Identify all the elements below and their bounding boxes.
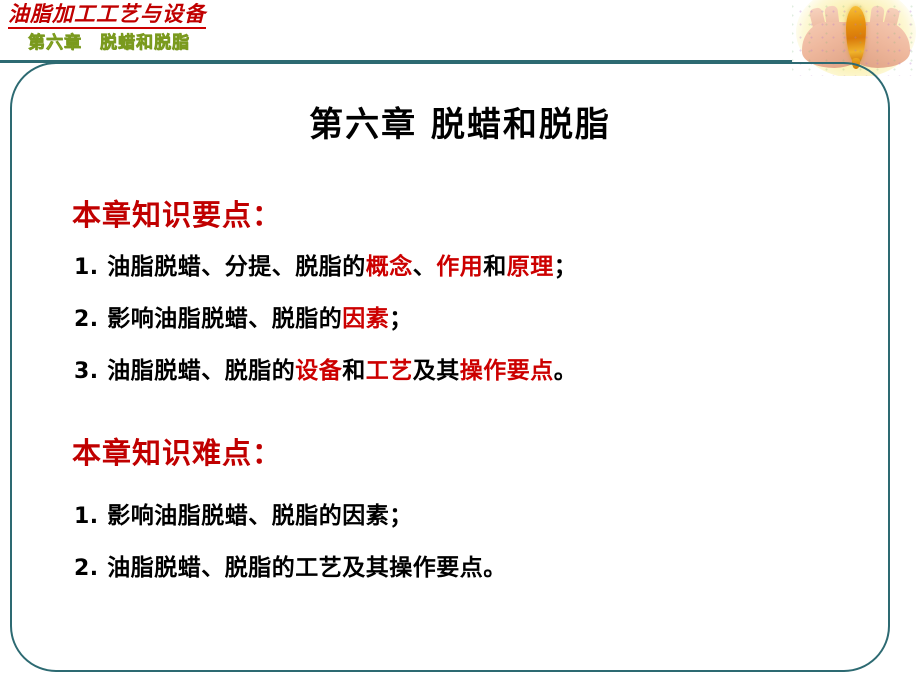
plain-text-run: 和 <box>483 253 507 280</box>
course-title: 油脂加工工艺与设备 <box>8 2 206 29</box>
list-item-number: 3. <box>74 359 99 384</box>
highlighted-term: 操作要点 <box>460 357 554 384</box>
list-item: 1. 油脂脱蜡、分提、脱脂的概念、作用和原理； <box>74 247 577 281</box>
list-item: 2. 影响油脂脱蜡、脱脂的因素； <box>74 299 413 333</box>
highlighted-term: 作用 <box>436 253 483 280</box>
highlighted-term: 工艺 <box>366 357 413 384</box>
list-item-number: 2. <box>74 307 99 332</box>
plain-text-run: 油脂脱蜡、分提、脱脂的 <box>107 253 366 280</box>
list-item-number: 1. <box>74 255 99 280</box>
list-item-text: 油脂脱蜡、脱脂的工艺及其操作要点。 <box>107 554 507 581</box>
slide-title: 第六章 脱蜡和脱脂 <box>0 97 920 146</box>
list-item-text: 影响油脂脱蜡、脱脂的因素； <box>107 305 413 332</box>
section-heading-difficult-points: 本章知识难点： <box>72 430 282 472</box>
highlighted-term: 原理 <box>507 253 554 280</box>
plain-text-run: 影响油脂脱蜡、脱脂的 <box>107 305 342 332</box>
list-item-number: 1. <box>74 504 99 529</box>
highlighted-term: 概念 <box>366 253 413 280</box>
list-item: 3. 油脂脱蜡、脱脂的设备和工艺及其操作要点。 <box>74 351 577 385</box>
plain-text-run: 和 <box>342 357 366 384</box>
presentation-slide: 油脂加工工艺与设备 第六章 脱蜡和脱脂 第六章 脱蜡和脱脂 本章知识要点： 1.… <box>0 0 920 690</box>
list-item-text: 油脂脱蜡、分提、脱脂的概念、作用和原理； <box>107 253 577 280</box>
plain-text-run: 油脂脱蜡、脱脂的工艺及其操作要点。 <box>107 554 507 581</box>
list-item: 2. 油脂脱蜡、脱脂的工艺及其操作要点。 <box>74 548 507 582</box>
plain-text-run: 油脂脱蜡、脱脂的 <box>107 357 295 384</box>
plain-text-run: ； <box>389 305 413 332</box>
list-item-number: 2. <box>74 556 99 581</box>
list-item: 1. 影响油脂脱蜡、脱脂的因素； <box>74 496 413 530</box>
highlighted-term: 设备 <box>295 357 342 384</box>
plain-text-run: 、 <box>413 253 437 280</box>
plain-text-run: ； <box>554 253 578 280</box>
plain-text-run: 影响油脂脱蜡、脱脂的因素； <box>107 502 413 529</box>
section-heading-key-points: 本章知识要点： <box>72 192 282 234</box>
list-item-text: 油脂脱蜡、脱脂的设备和工艺及其操作要点。 <box>107 357 577 384</box>
plain-text-run: 及其 <box>413 357 460 384</box>
plain-text-run: 。 <box>554 357 578 384</box>
list-item-text: 影响油脂脱蜡、脱脂的因素； <box>107 502 413 529</box>
header-chapter-label: 第六章 脱蜡和脱脂 <box>28 28 190 53</box>
highlighted-term: 因素 <box>342 305 389 332</box>
